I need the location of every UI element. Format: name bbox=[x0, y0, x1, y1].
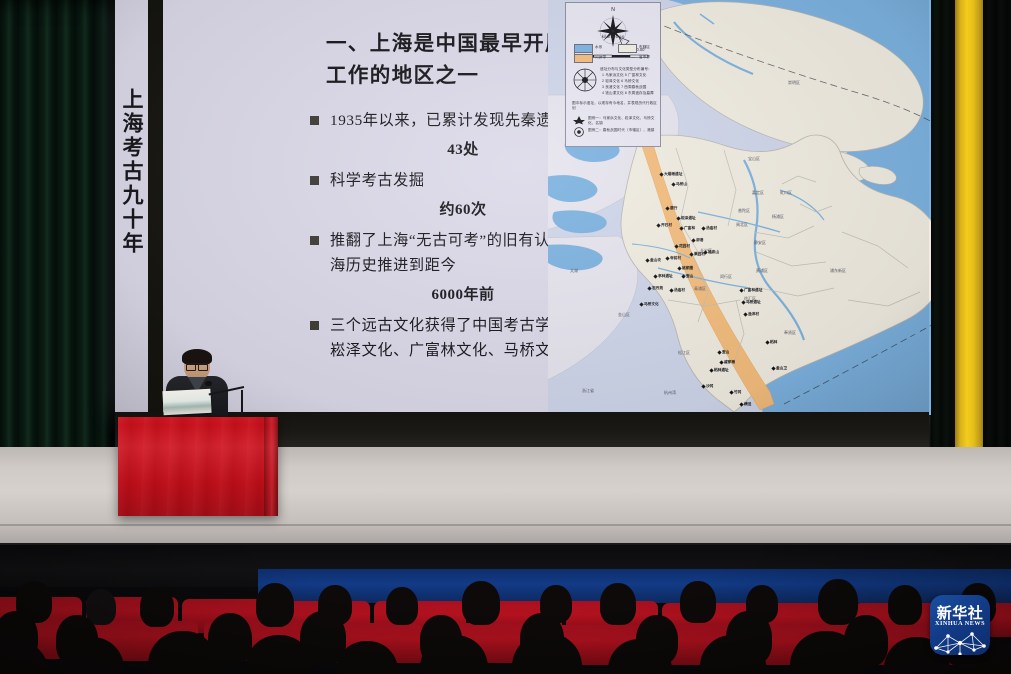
legend-note: 3 良渚文化 7 西周春秋战国 bbox=[602, 85, 658, 90]
slide-side-band: 上海考古九十年 bbox=[115, 0, 148, 415]
stage-curtain-right-gold bbox=[955, 0, 985, 508]
map-site-marker: 竹冈 bbox=[734, 390, 741, 395]
logo-network-icon bbox=[930, 626, 990, 655]
legend-label-ridge: 冈身带 bbox=[595, 55, 606, 60]
stage-curtain-far-right bbox=[983, 0, 1011, 512]
audience-head bbox=[818, 579, 858, 625]
legend-label-district: 市辖区 bbox=[639, 45, 650, 50]
microphone-stand bbox=[241, 390, 243, 420]
legend-note: 图例一：马家浜文化、崧泽文化、马桥文化、名镇 bbox=[588, 116, 658, 125]
legend-swatch-district bbox=[618, 44, 637, 53]
map-region-label: 太湖 bbox=[570, 268, 578, 274]
map-site-marker: 沙冈 bbox=[706, 384, 713, 389]
stage-curtain-left bbox=[0, 0, 118, 500]
legend-note: 遗址分布与文化类型分布编号： bbox=[600, 67, 656, 72]
map-district-label: 崇明区 bbox=[788, 80, 800, 86]
speaker-glasses bbox=[186, 363, 208, 369]
microphone-head bbox=[205, 381, 212, 386]
map-site-marker: 福泉山 bbox=[708, 250, 719, 255]
legend-note: 图中标示遗址，以现存有今地名，并表现历代行政区划 bbox=[572, 101, 658, 110]
map-site-marker: 金山卫 bbox=[776, 366, 787, 371]
map-district-label: 闸北区 bbox=[736, 222, 748, 228]
photograph-scene: 上海考古九十年 一、上海是中国最早开展考古工作的地区之一 1935年以来，已累计… bbox=[0, 0, 1011, 674]
legend-note: 4 钱山漾文化 8 东周遗存及墓葬 bbox=[602, 91, 658, 96]
map-site-marker: 马桥文化 bbox=[644, 302, 659, 307]
audience-head bbox=[600, 583, 636, 625]
legend-label-boundary: 省市界 bbox=[639, 55, 650, 60]
map-site-marker: 金山坟 bbox=[650, 258, 661, 263]
map-site-marker: 大烟墩遗址 bbox=[664, 172, 682, 177]
map-site-marker: 唐行 bbox=[670, 206, 677, 211]
scale-unit-label: kilometres bbox=[566, 34, 660, 39]
map-site-marker: 马桥遗址 bbox=[746, 300, 761, 305]
map-district-label: 青浦区 bbox=[694, 286, 706, 292]
map-site-marker: 汤庙村 bbox=[706, 226, 717, 231]
audience-area bbox=[0, 545, 1011, 674]
map-site-marker: 广富林遗址 bbox=[744, 288, 762, 293]
map-district-label: 黄浦区 bbox=[756, 268, 768, 274]
audience-head bbox=[462, 581, 500, 625]
slide-side-title: 上海考古九十年 bbox=[115, 88, 148, 256]
map-site-marker: 柘林遗址 bbox=[714, 368, 729, 373]
map-site-marker: 查山 bbox=[686, 274, 693, 279]
audience-head bbox=[386, 587, 418, 625]
legend-swatch-boundary bbox=[618, 57, 635, 58]
map-site-marker: 姚家圈 bbox=[682, 266, 693, 271]
map-district-label: 杨浦区 bbox=[772, 214, 784, 220]
map-region-label: 浙江省 bbox=[582, 388, 594, 394]
map-site-marker: 广富林 bbox=[684, 226, 695, 231]
legend-note: 2 崧泽文化 6 马桥文化 bbox=[602, 79, 658, 84]
map-district-label: 松江区 bbox=[678, 350, 690, 356]
map-site-marker: 戚家墩 bbox=[724, 360, 735, 365]
legend-note: 图例二：春秋战国时代（市辖区）、港镇 bbox=[588, 128, 658, 133]
map-district-label: 闵行区 bbox=[720, 274, 732, 280]
shanghai-archaeology-map: 崇明区 宝山区 嘉定区 普陀区 虹口区 杨浦区 闸北区 静安区 长宁区 黄浦区 … bbox=[548, 0, 977, 415]
map-district-label: 浦东新区 bbox=[830, 268, 846, 274]
map-district-label: 金山区 bbox=[618, 312, 630, 318]
legend-swatch-water bbox=[574, 44, 593, 53]
legend-label-water: 水系 bbox=[595, 45, 602, 50]
map-site-marker: 汤庙村 bbox=[674, 288, 685, 293]
map-district-label: 静安区 bbox=[754, 240, 766, 246]
lecture-notes bbox=[162, 389, 211, 415]
map-district-label: 奉贤区 bbox=[784, 330, 796, 336]
xinhua-news-watermark: 新华社 XINHUA NEWS bbox=[930, 595, 990, 655]
legend-symbol-two-icon bbox=[572, 127, 586, 137]
culture-wheel-icon bbox=[572, 67, 598, 93]
map-site-marker: 寺前村 bbox=[670, 256, 681, 261]
svg-text:N: N bbox=[611, 7, 615, 13]
table-cloth-fold bbox=[264, 417, 278, 516]
map-site-marker: 崧泽遗址 bbox=[681, 216, 696, 221]
audience-head bbox=[256, 583, 294, 627]
stage-floor-seam bbox=[0, 524, 1011, 526]
map-site-marker: 渔洋村 bbox=[748, 312, 759, 317]
map-site-marker: 开石村 bbox=[661, 223, 672, 228]
map-site-marker: 马桥山 bbox=[676, 182, 687, 187]
map-district-label: 普陀区 bbox=[738, 208, 750, 214]
legend-swatch-ridge bbox=[574, 54, 593, 63]
map-site-marker: 亭林遗址 bbox=[658, 274, 673, 279]
slide-side-divider bbox=[148, 0, 163, 415]
map-site-marker: 泖港 bbox=[696, 238, 703, 243]
map-site-marker: 查山 bbox=[722, 350, 729, 355]
presentation-slide: 一、上海是中国最早开展考古工作的地区之一 1935年以来，已累计发现先秦遗址 4… bbox=[163, 0, 929, 415]
legend-note: 1 马家浜文化 5 广富林文化 bbox=[602, 73, 658, 78]
map-site-marker: 横泾 bbox=[744, 402, 751, 407]
map-region-label: 杭州湾 bbox=[664, 390, 676, 396]
audience-head bbox=[888, 585, 922, 625]
map-site-marker: 志丹苑 bbox=[652, 286, 663, 291]
legend-symbol-one-icon bbox=[572, 115, 586, 125]
map-site-marker: 花园村 bbox=[679, 244, 690, 249]
projection-screen: 上海考古九十年 一、上海是中国最早开展考古工作的地区之一 1935年以来，已累计… bbox=[115, 0, 929, 415]
map-legend: N bbox=[565, 2, 661, 147]
map-district-label: 虹口区 bbox=[780, 190, 792, 196]
audience-head bbox=[680, 581, 716, 623]
map-site-marker: 柘林 bbox=[770, 340, 777, 345]
audience-head bbox=[140, 587, 174, 627]
map-district-label: 宝山区 bbox=[748, 156, 760, 162]
map-district-label: 嘉定区 bbox=[752, 190, 764, 196]
stage-curtain-right-dark bbox=[931, 0, 957, 504]
red-draped-table bbox=[118, 417, 278, 516]
